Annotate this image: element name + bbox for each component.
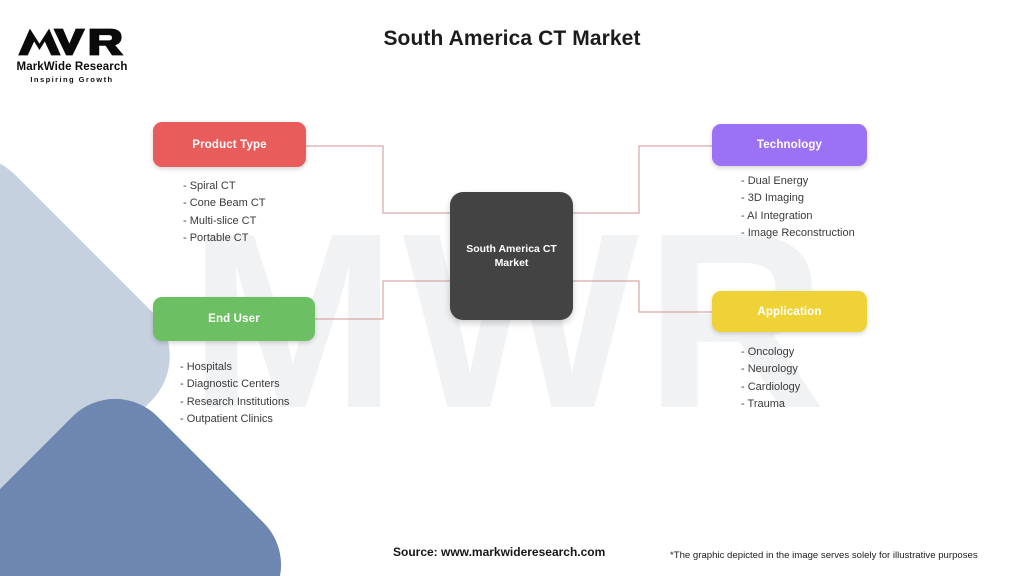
list-technology: - Dual Energy - 3D Imaging - AI Integrat… bbox=[741, 173, 855, 242]
connector-technology bbox=[573, 146, 712, 213]
node-end-user[interactable]: End User bbox=[153, 297, 315, 341]
diagram-canvas: MWR MarkWide Research Inspiring Growth S… bbox=[0, 0, 1024, 576]
connector-application bbox=[573, 281, 712, 312]
list-item: - Neurology bbox=[741, 361, 800, 378]
node-application-label: Application bbox=[757, 306, 821, 318]
node-application[interactable]: Application bbox=[712, 291, 867, 332]
list-item: - Portable CT bbox=[183, 230, 266, 247]
list-item: - Outpatient Clinics bbox=[180, 411, 289, 428]
list-application: - Oncology - Neurology - Cardiology - Tr… bbox=[741, 344, 800, 413]
node-technology[interactable]: Technology bbox=[712, 124, 867, 166]
list-item: - Cardiology bbox=[741, 379, 800, 396]
list-item: - Diagnostic Centers bbox=[180, 376, 289, 393]
list-item: - Research Institutions bbox=[180, 394, 289, 411]
disclaimer-note: *The graphic depicted in the image serve… bbox=[670, 550, 978, 561]
connector-end-user bbox=[315, 281, 450, 319]
list-product-type: - Spiral CT - Cone Beam CT - Multi-slice… bbox=[183, 178, 266, 247]
center-node[interactable]: South America CT Market bbox=[450, 192, 573, 320]
list-item: - Oncology bbox=[741, 344, 800, 361]
connector-product-type bbox=[306, 146, 450, 213]
list-item: - Image Reconstruction bbox=[741, 225, 855, 242]
list-item: - Cone Beam CT bbox=[183, 195, 266, 212]
node-product-type[interactable]: Product Type bbox=[153, 122, 306, 167]
node-product-type-label: Product Type bbox=[192, 139, 266, 151]
list-end-user: - Hospitals - Diagnostic Centers - Resea… bbox=[180, 359, 289, 428]
list-item: - Hospitals bbox=[180, 359, 289, 376]
list-item: - Spiral CT bbox=[183, 178, 266, 195]
list-item: - Multi-slice CT bbox=[183, 213, 266, 230]
center-node-label: South America CT Market bbox=[450, 242, 573, 270]
node-technology-label: Technology bbox=[757, 139, 822, 151]
source-label: Source: www.markwideresearch.com bbox=[393, 545, 605, 559]
list-item: - AI Integration bbox=[741, 208, 855, 225]
list-item: - Dual Energy bbox=[741, 173, 855, 190]
list-item: - 3D Imaging bbox=[741, 190, 855, 207]
node-end-user-label: End User bbox=[208, 313, 260, 325]
list-item: - Trauma bbox=[741, 396, 800, 413]
